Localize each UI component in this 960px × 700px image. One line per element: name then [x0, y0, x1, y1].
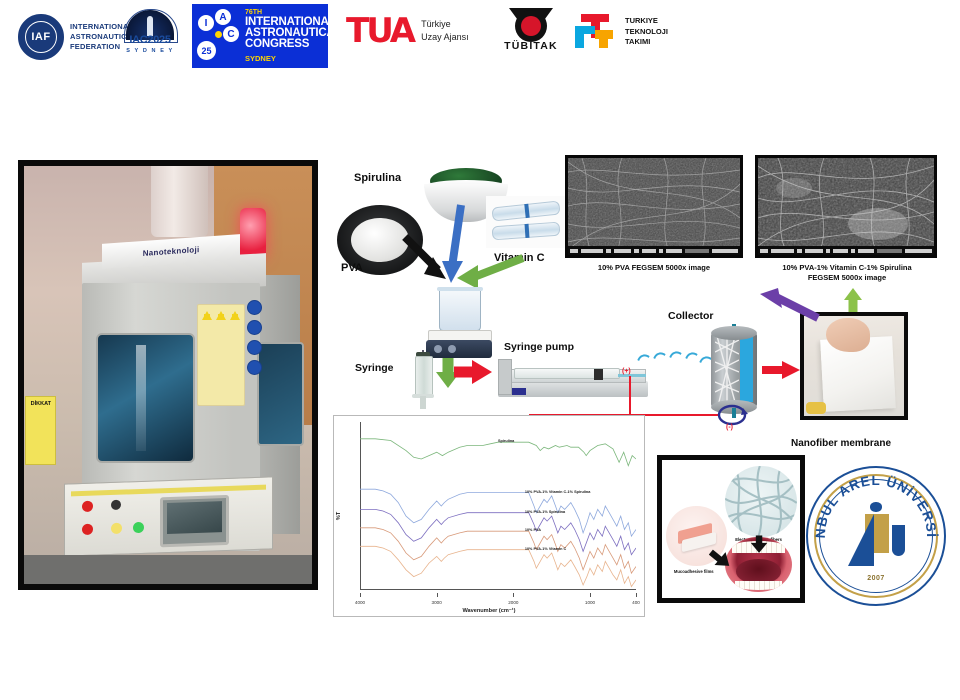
chart-x-axis-title: Wavenumber (cm⁻¹): [334, 608, 644, 614]
ftir-curve-label: Spirulina: [498, 439, 514, 443]
iac-yellow-dot-icon: [215, 31, 222, 38]
electrospinning-machine-photo: Nanoteknoloji DİKKAT: [18, 160, 318, 590]
logo-iac-congress: I A C 25 76TH INTERNATIONAL ASTRONAUTICA…: [192, 4, 328, 68]
chart-x-tick-label: 400: [632, 600, 640, 605]
chart-x-tick-label: 2000: [508, 600, 518, 605]
ground-rotation-icon: [715, 404, 751, 426]
machine-touchscreen[interactable]: [161, 494, 229, 546]
membrane-to-sem-arrow-purple: [756, 288, 824, 322]
machine-control-panel[interactable]: [64, 476, 273, 556]
pva-arrow-black: [405, 237, 446, 279]
logo-bar: INTERNATIONAL ASTRONAUTICAL FEDERATION I…: [0, 0, 960, 70]
chart-y-axis-title: %T: [336, 512, 342, 520]
nanofiber-to-mouth-arrow: [748, 535, 770, 554]
electrospun-nanofibers-image: [725, 466, 797, 538]
warning-beacon-light: [240, 208, 266, 258]
collector-to-membrane-arrow-red: [760, 358, 802, 382]
emergency-stop-button[interactable]: [82, 500, 93, 511]
chart-x-tick: [437, 593, 438, 597]
ftir-curve-label: 10% PVA-1% Vitamin C-1% Spirulina: [525, 490, 590, 494]
iac2025-word: IAC2025: [122, 34, 178, 46]
syringe-pump-image: [498, 355, 648, 397]
iac-title: INTERNATIONAL ASTRONAUTICAL CONGRESS: [245, 17, 341, 50]
beaker-with-solution: [439, 290, 481, 331]
negative-electrode-label: (-): [726, 424, 733, 431]
logo-tua: TUA Türkiye Uzay Ajansı: [346, 14, 469, 48]
hv-wire-vertical: [629, 376, 631, 416]
chart-x-tick-label: 4000: [355, 600, 365, 605]
ftir-spectra-chart: %T Wavenumber (cm⁻¹) 4000300020001000400…: [333, 415, 645, 617]
chart-x-tick: [636, 593, 637, 597]
chart-x-tick: [590, 593, 591, 597]
tubitak-mark-icon: [509, 8, 553, 38]
chart-x-tick-label: 1000: [585, 600, 595, 605]
logo-t3: TURKIYE TEKNOLOJI TAKIMI: [573, 12, 668, 52]
iac-badge-i: I: [198, 15, 214, 31]
safety-pictogram-icons: [247, 300, 273, 417]
sem-image-pva-vitc-spirulina: [755, 155, 937, 258]
t3-mark-icon: [573, 12, 619, 52]
iaf-seal-icon: [18, 14, 64, 60]
ftir-curve-label: 10% PVA-1% Vitamin C: [525, 547, 566, 551]
logo-tubitak: TÜBİTAK: [500, 8, 562, 52]
rotating-collector-image: [711, 324, 757, 416]
arel-university-logo: İSTANBUL AREL ÜNİVERSİTESİ 2007: [806, 466, 946, 606]
selector-switch[interactable]: [111, 499, 121, 509]
mucoadhesive-films-label: Mucoadhesive films: [662, 569, 725, 574]
syringe-pump-label: Syringe pump: [504, 341, 574, 353]
ftir-curve-label: 10% PVA-1% Spirulina: [525, 510, 565, 514]
t3-label: TURKIYE TEKNOLOJI TAKIMI: [625, 16, 668, 48]
electrospinning-jet: [635, 350, 715, 386]
tua-label: Türkiye Uzay Ajansı: [421, 18, 469, 44]
syringe-to-pump-arrow-red: [452, 358, 496, 386]
indicator-lamp-yellow: [111, 522, 122, 533]
logo-iaf: INTERNATIONAL ASTRONAUTICAL FEDERATION: [18, 14, 137, 60]
collector-label: Collector: [668, 310, 714, 322]
logo-iac2025: IAC2025 S Y D N E Y: [122, 10, 178, 54]
positive-electrode-label: (+): [622, 368, 631, 375]
syringe-image: [412, 350, 434, 410]
syringe-label: Syringe: [355, 362, 394, 374]
ftir-curve-label: 10% PVA: [525, 528, 541, 532]
sem-caption-left: 10% PVA FEGSEM 5000x image: [565, 263, 743, 273]
nanofiber-membrane-photo: [800, 312, 908, 420]
iac2025-seal-icon: IAC2025 S Y D N E Y: [122, 10, 178, 54]
chart-x-tick: [513, 593, 514, 597]
membrane-green-arrow-up: [840, 288, 866, 314]
sem-image-pva: [565, 155, 743, 258]
iac-badge-a: A: [215, 9, 231, 25]
warning-sticker-plate: [197, 304, 245, 406]
sem-info-bar-right: [758, 246, 934, 255]
tua-wordmark: TUA: [346, 14, 413, 48]
iac-badge-year: 25: [197, 41, 216, 60]
sem-caption-right: 10% PVA-1% Vitamin C-1% Spirulina FEGSEM…: [752, 263, 942, 283]
ftir-curve: [360, 509, 636, 554]
film-to-mouth-arrow: [709, 548, 731, 567]
iac-edition: 76TH: [245, 9, 262, 16]
ventilation-duct: [151, 166, 209, 237]
mucoadhesive-application-diagram: Electrospun nanofibers Mucoadhesive film…: [657, 455, 805, 603]
iac2025-city: S Y D N E Y: [122, 48, 178, 54]
indicator-lamp-green: [134, 521, 145, 532]
iac-congress-block: I A C 25 76TH INTERNATIONAL ASTRONAUTICA…: [192, 4, 328, 68]
stop-button[interactable]: [82, 523, 93, 534]
ftir-curve: [360, 528, 636, 573]
collected-fiber-mat: [715, 336, 739, 402]
dikkat-warning-sign: DİKKAT: [25, 396, 56, 465]
arel-monogram-icon: [848, 502, 904, 569]
nanofiber-membrane-label: Nanofiber membrane: [791, 438, 891, 449]
ftir-plot-area: [360, 422, 636, 590]
vitamin-c-arrow-green: [457, 258, 523, 289]
chart-x-tick-label: 3000: [432, 600, 442, 605]
sem-info-bar-left: [568, 246, 740, 255]
spirulina-arrow-blue: [442, 205, 463, 283]
iac-badge-c: C: [223, 26, 239, 42]
iac-city: SYDNEY: [245, 54, 276, 63]
arel-founding-year: 2007: [806, 575, 946, 582]
machine-viewing-window: [96, 333, 195, 462]
chart-x-tick: [360, 593, 361, 597]
ftir-curve: [360, 546, 636, 586]
